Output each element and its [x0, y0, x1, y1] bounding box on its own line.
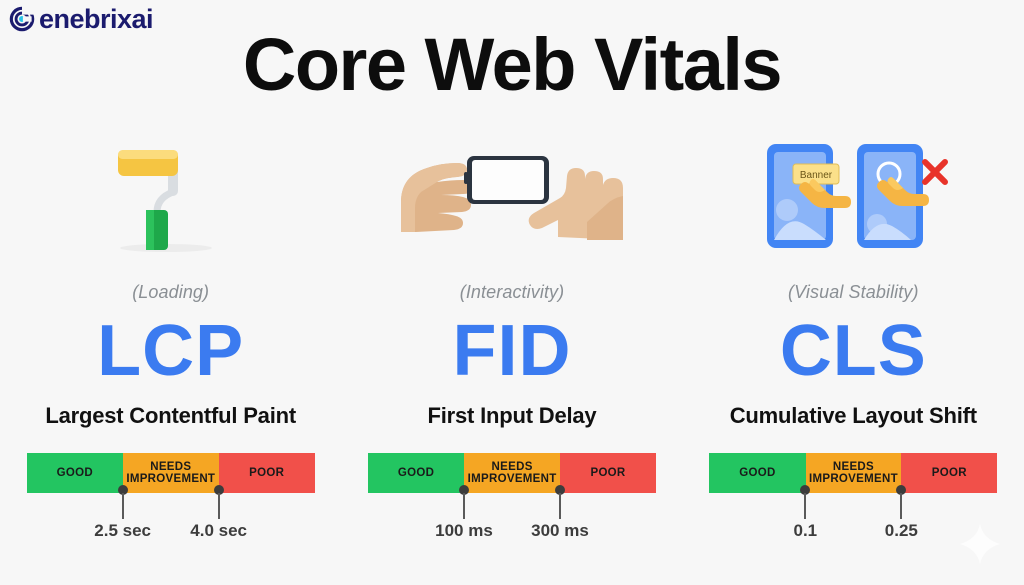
- score-scale-fid: GOOD NEEDS IMPROVEMENT POOR 100 ms: [368, 453, 656, 493]
- metric-column-lcp: (Loading) LCP Largest Contentful Paint G…: [0, 132, 341, 493]
- threshold-label: 300 ms: [500, 521, 620, 541]
- threshold-stem: [900, 493, 902, 519]
- segment-poor: POOR: [560, 453, 656, 493]
- metric-acronym: LCP: [97, 315, 244, 387]
- threshold-label: 0.25: [841, 521, 961, 541]
- segment-needs-improvement: NEEDS IMPROVEMENT: [464, 453, 560, 493]
- metric-column-fid: (Interactivity) FID First Input Delay GO…: [341, 132, 682, 493]
- four-point-sparkle-icon: [958, 522, 1002, 571]
- threshold-stem: [218, 493, 220, 519]
- score-scale-lcp: GOOD NEEDS IMPROVEMENT POOR 2.5 sec: [27, 453, 315, 493]
- threshold-stem: [559, 493, 561, 519]
- threshold-stem: [122, 493, 124, 519]
- segment-label: POOR: [249, 467, 284, 479]
- segment-label: POOR: [590, 467, 625, 479]
- segment-label: NEEDS IMPROVEMENT: [123, 461, 219, 485]
- segment-label: GOOD: [739, 467, 775, 479]
- score-bar: GOOD NEEDS IMPROVEMENT POOR: [368, 453, 656, 493]
- segment-needs-improvement: NEEDS IMPROVEMENT: [806, 453, 902, 493]
- segment-label: NEEDS IMPROVEMENT: [806, 461, 902, 485]
- segment-good: GOOD: [368, 453, 464, 493]
- shifting-layout-phones-icon: Banner: [683, 132, 1024, 260]
- metric-subtitle: (Loading): [132, 282, 209, 303]
- threshold-stem: [804, 493, 806, 519]
- segment-good: GOOD: [27, 453, 123, 493]
- threshold-label: 4.0 sec: [159, 521, 279, 541]
- segment-poor: POOR: [219, 453, 315, 493]
- metric-column-cls: Banner: [683, 132, 1024, 493]
- score-scale-cls: GOOD NEEDS IMPROVEMENT POOR 0.1: [709, 453, 997, 493]
- threshold-stem: [463, 493, 465, 519]
- segment-good: GOOD: [709, 453, 805, 493]
- segment-label: GOOD: [398, 467, 434, 479]
- segment-needs-improvement: NEEDS IMPROVEMENT: [123, 453, 219, 493]
- hands-tapping-phone-icon: [341, 132, 682, 260]
- segment-poor: POOR: [901, 453, 997, 493]
- error-x-icon: [925, 162, 945, 182]
- metric-full-name: Cumulative Layout Shift: [730, 403, 977, 429]
- segment-label: POOR: [932, 467, 967, 479]
- score-bar: GOOD NEEDS IMPROVEMENT POOR: [27, 453, 315, 493]
- metric-subtitle: (Visual Stability): [788, 282, 919, 303]
- metric-subtitle: (Interactivity): [460, 282, 565, 303]
- segment-label: NEEDS IMPROVEMENT: [464, 461, 560, 485]
- metric-full-name: Largest Contentful Paint: [45, 403, 296, 429]
- infographic-canvas: enebrixai Core Web Vitals (Loading) LCP …: [0, 0, 1024, 585]
- page-title: Core Web Vitals: [0, 28, 1024, 102]
- metric-acronym: FID: [453, 315, 572, 387]
- metrics-row: (Loading) LCP Largest Contentful Paint G…: [0, 132, 1024, 493]
- segment-label: GOOD: [57, 467, 93, 479]
- paint-roller-icon: [0, 132, 341, 260]
- metric-full-name: First Input Delay: [428, 403, 597, 429]
- banner-label: Banner: [800, 170, 833, 181]
- metric-acronym: CLS: [780, 315, 927, 387]
- score-bar: GOOD NEEDS IMPROVEMENT POOR: [709, 453, 997, 493]
